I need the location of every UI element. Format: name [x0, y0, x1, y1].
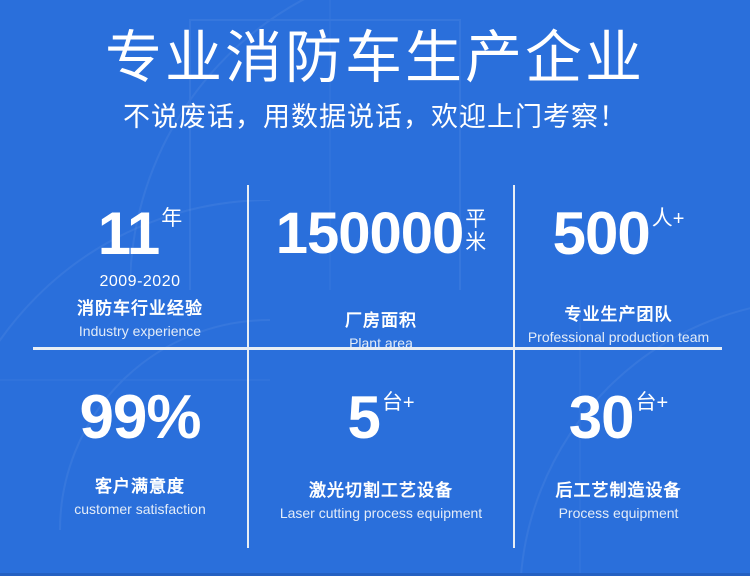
stat-number-row: 150000 平 米: [276, 203, 487, 265]
stat-label-en: customer satisfaction: [74, 500, 206, 519]
promo-banner: 专业消防车生产企业 不说废话，用数据说话，欢迎上门考察！ 11 年 2009-2…: [0, 0, 750, 576]
stat-number-row: 30 台 +: [569, 387, 668, 449]
stat-caption: 后工艺制造设备 Process equipment: [556, 475, 682, 523]
stat-label-en: Laser cutting process equipment: [280, 504, 482, 523]
stat-number-row: 5 台 +: [347, 387, 414, 449]
stat-label-cn: 消防车行业经验: [77, 298, 203, 320]
stat-caption: 激光切割工艺设备 Laser cutting process equipment: [280, 475, 482, 523]
page-title: 专业消防车生产企业: [0, 0, 750, 90]
stat-label-cn: 后工艺制造设备: [556, 480, 682, 502]
stat-unit: 年: [159, 203, 182, 230]
stat-unit-row: 人 +: [650, 203, 685, 230]
stat-unit: 人: [650, 203, 673, 230]
stat-year-range: 2009-2020: [99, 272, 180, 292]
stat-label-en: Process equipment: [556, 504, 682, 523]
stat-caption: 厂房面积 Plant area: [345, 305, 417, 353]
stat-cell-laser-cutting-equipment: 5 台 + 激光切割工艺设备 Laser cutting process equ…: [247, 347, 513, 548]
stat-number: 11: [98, 203, 159, 265]
stat-label-cn: 激光切割工艺设备: [280, 480, 482, 502]
stat-unit-plus: +: [657, 387, 669, 414]
stat-number-row: 99%: [79, 387, 200, 449]
stat-cell-plant-area: 150000 平 米 厂房面积 Plant area: [247, 185, 513, 347]
stat-unit: 平 米: [463, 203, 486, 254]
stats-grid: 11 年 2009-2020 消防车行业经验 Industry experien…: [33, 185, 722, 548]
stat-label-cn: 客户满意度: [74, 476, 206, 498]
stat-number: 5: [347, 387, 379, 449]
stat-unit-plus: +: [673, 203, 685, 230]
stat-caption: 专业生产团队 Professional production team: [528, 299, 709, 347]
banner-header: 专业消防车生产企业 不说废话，用数据说话，欢迎上门考察！: [0, 0, 750, 134]
stat-number: 99%: [79, 387, 200, 449]
stat-unit-plus: +: [403, 387, 415, 414]
stat-label-en: Professional production team: [528, 328, 709, 347]
stat-number: 150000: [276, 203, 464, 265]
stat-label-cn: 厂房面积: [345, 310, 417, 332]
stat-unit: 台: [380, 387, 403, 414]
stat-cell-production-team: 500 人 + 专业生产团队 Professional production t…: [513, 185, 722, 347]
stat-label-en: Industry experience: [77, 322, 203, 341]
page-subtitle: 不说废话，用数据说话，欢迎上门考察！: [0, 90, 750, 134]
stat-unit-row: 台 +: [634, 387, 669, 414]
stat-unit-bottom: 米: [465, 231, 486, 254]
stat-number-row: 500 人 +: [553, 203, 685, 265]
stat-number-row: 11 年: [98, 203, 182, 265]
stat-unit: 台: [634, 387, 657, 414]
stat-caption: 客户满意度 customer satisfaction: [74, 471, 206, 519]
stat-number: 30: [569, 387, 634, 449]
stat-unit-row: 台 +: [380, 387, 415, 414]
stat-label-cn: 专业生产团队: [528, 304, 709, 326]
stat-number: 500: [553, 203, 650, 265]
stat-cell-industry-experience: 11 年 2009-2020 消防车行业经验 Industry experien…: [33, 185, 247, 347]
stat-caption: 消防车行业经验 Industry experience: [77, 296, 203, 341]
stat-unit-top: 平: [465, 208, 486, 231]
stat-cell-customer-satisfaction: 99% 客户满意度 customer satisfaction: [33, 347, 247, 548]
stat-cell-process-equipment: 30 台 + 后工艺制造设备 Process equipment: [513, 347, 722, 548]
